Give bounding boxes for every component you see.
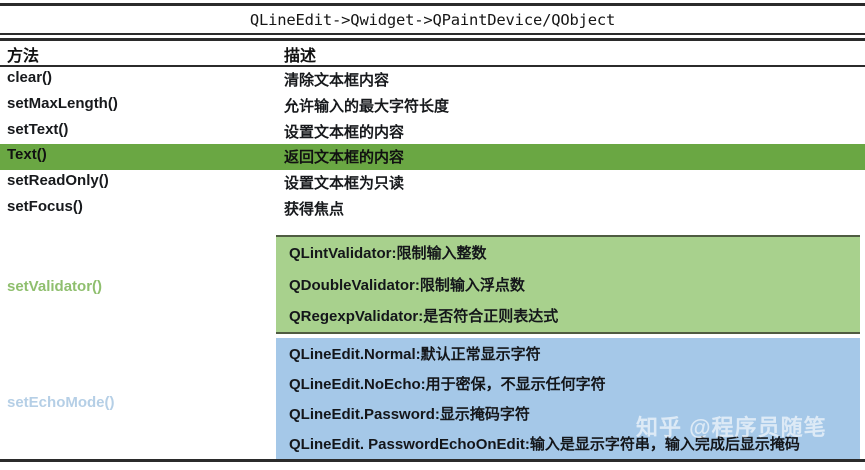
validator-option: QLintValidator:限制输入整数 (276, 237, 860, 269)
table-row: setText() 设置文本框的内容 (0, 119, 865, 145)
method-description: 获得焦点 (284, 198, 344, 219)
method-name: setText() (7, 121, 68, 138)
method-name: setMaxLength() (7, 95, 118, 112)
set-validator-section: setValidator() QLintValidator:限制输入整数 QDo… (0, 232, 865, 338)
table-row: setFocus() 获得焦点 (0, 196, 865, 222)
reference-table-sheet: QLineEdit->Qwidget->QPaintDevice/QObject… (0, 0, 865, 470)
method-name-set-echo-mode: setEchoMode() (7, 394, 115, 411)
set-echo-mode-options-block: QLineEdit.Normal:默认正常显示字符 QLineEdit.NoEc… (276, 338, 860, 459)
column-header-method: 方法 (7, 42, 39, 66)
method-description: 清除文本框内容 (284, 69, 389, 90)
echo-mode-option: QLineEdit.Normal:默认正常显示字符 (276, 338, 860, 368)
header-top-border (0, 38, 865, 41)
table-column-headers: 方法 描述 (0, 42, 865, 65)
table-bottom-border (0, 459, 865, 462)
page-title: QLineEdit->Qwidget->QPaintDevice/QObject (250, 11, 615, 29)
method-name-set-validator: setValidator() (7, 278, 102, 295)
method-name: clear() (7, 69, 52, 86)
set-validator-options-block: QLintValidator:限制输入整数 QDoubleValidator:限… (276, 235, 860, 334)
method-description: 返回文本框的内容 (284, 146, 404, 167)
table-row-highlighted: Text() 返回文本框的内容 (0, 144, 865, 170)
echo-mode-option: QLineEdit.NoEcho:用于密保，不显示任何字符 (276, 368, 860, 398)
set-echo-mode-section: setEchoMode() QLineEdit.Normal:默认正常显示字符 … (0, 338, 865, 459)
title-bottom-border (0, 33, 865, 35)
table-row: setMaxLength() 允许输入的最大字符长度 (0, 93, 865, 119)
validator-option: QRegexpValidator:是否符合正则表达式 (276, 300, 860, 332)
method-name: Text() (7, 146, 47, 163)
method-description: 设置文本框的内容 (284, 121, 404, 142)
echo-mode-option: QLineEdit. PasswordEchoOnEdit:输入是显示字符串，输… (276, 429, 860, 459)
method-name: setReadOnly() (7, 172, 109, 189)
column-header-description: 描述 (284, 42, 316, 66)
method-name: setFocus() (7, 198, 83, 215)
echo-mode-option: QLineEdit.Password:显示掩码字符 (276, 398, 860, 428)
method-rows: clear() 清除文本框内容 setMaxLength() 允许输入的最大字符… (0, 67, 865, 222)
table-row: setReadOnly() 设置文本框为只读 (0, 170, 865, 196)
table-title-row: QLineEdit->Qwidget->QPaintDevice/QObject (0, 6, 865, 33)
table-row: clear() 清除文本框内容 (0, 67, 865, 93)
method-description: 设置文本框为只读 (284, 172, 404, 193)
validator-option: QDoubleValidator:限制输入浮点数 (276, 269, 860, 301)
method-description: 允许输入的最大字符长度 (284, 95, 449, 116)
